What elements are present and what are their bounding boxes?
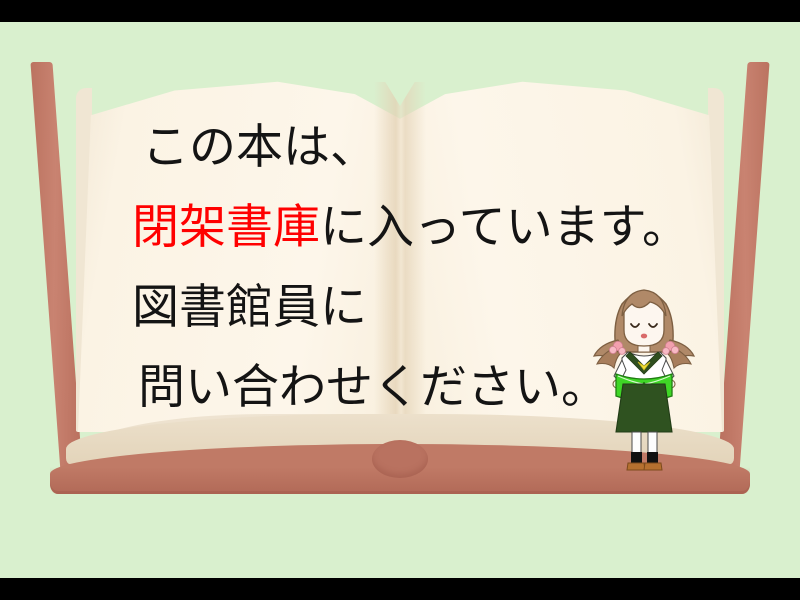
closed-stack-keyword: 閉架書庫 <box>132 200 320 255</box>
notice-line-3: 図書館員に <box>132 284 367 331</box>
notice-card: この本は、 閉架書庫に入っています。 図書館員に 問い合わせください。 <box>0 0 800 600</box>
notice-line-4: 問い合わせください。 <box>138 364 608 411</box>
notice-line-1: この本は、 <box>142 124 377 171</box>
notice-line-2: 閉架書庫に入っています。 <box>132 204 689 251</box>
letterbox-top <box>0 0 800 22</box>
girl-reading-illustration <box>592 274 696 474</box>
letterbox-bottom <box>0 578 800 600</box>
green-canvas: この本は、 閉架書庫に入っています。 図書館員に 問い合わせください。 <box>0 22 800 578</box>
notice-line-2-suffix: に入っています。 <box>320 200 689 255</box>
